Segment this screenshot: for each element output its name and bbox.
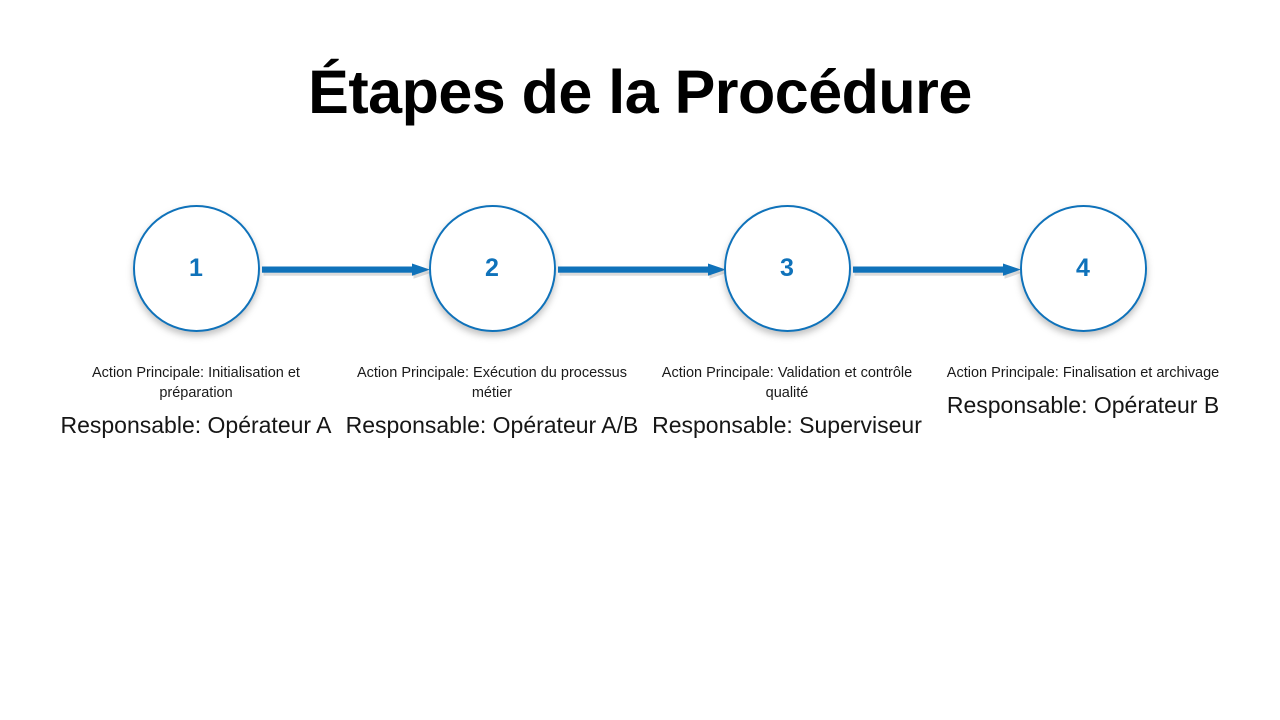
step-number-1: 1 [189,256,203,281]
process-step-4[interactable]: 4 Action Principale: Finalisation et arc… [935,205,1231,505]
step-circle-2[interactable]: 2 [429,205,556,332]
step-responsible-1: Responsable: Opérateur A [48,411,344,440]
step-number-3: 3 [780,256,794,281]
step-caption-3: Action Principale: Validation et contrôl… [639,363,935,440]
step-responsible-3: Responsable: Superviseur [639,411,935,440]
step-action-2: Action Principale: Exécution du processu… [344,363,640,403]
step-caption-1: Action Principale: Initialisation et pré… [48,363,344,440]
step-circle-4[interactable]: 4 [1020,205,1147,332]
step-action-1: Action Principale: Initialisation et pré… [48,363,344,403]
step-number-4: 4 [1076,256,1090,281]
step-caption-2: Action Principale: Exécution du processu… [344,363,640,440]
process-step-1[interactable]: 1 Action Principale: Initialisation et p… [48,205,344,505]
slide-canvas: Étapes de la Procédure 1 Action Principa… [0,0,1280,720]
step-caption-4: Action Principale: Finalisation et archi… [935,363,1231,420]
step-circle-3[interactable]: 3 [724,205,851,332]
step-action-4: Action Principale: Finalisation et archi… [935,363,1231,383]
process-step-2[interactable]: 2 Action Principale: Exécution du proces… [344,205,640,505]
step-circle-1[interactable]: 1 [133,205,260,332]
step-number-2: 2 [485,256,499,281]
process-flow-diagram: 1 Action Principale: Initialisation et p… [0,0,1280,720]
step-responsible-4: Responsable: Opérateur B [935,391,1231,420]
process-step-3[interactable]: 3 Action Principale: Validation et contr… [639,205,935,505]
step-action-3: Action Principale: Validation et contrôl… [639,363,935,403]
step-responsible-2: Responsable: Opérateur A/B [344,411,640,440]
